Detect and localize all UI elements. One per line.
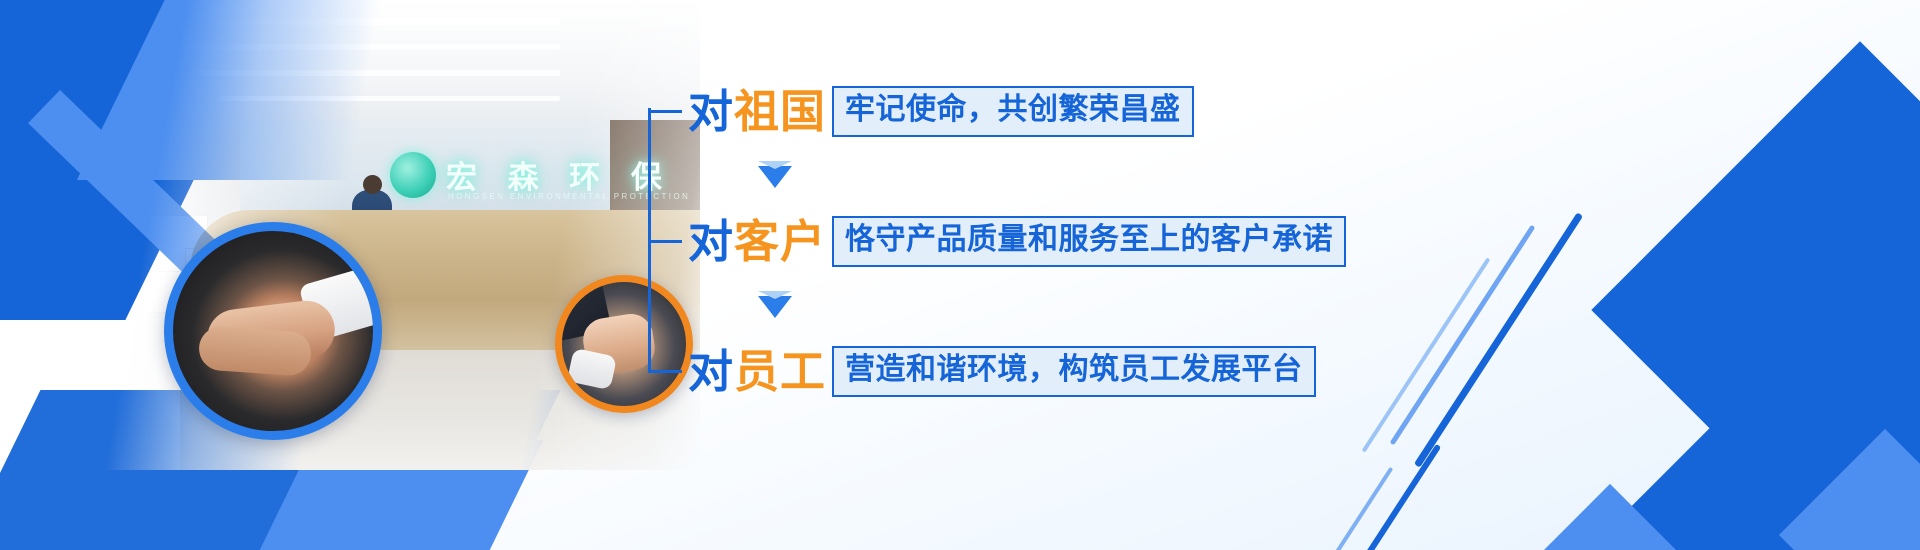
ceiling-slat bbox=[220, 96, 560, 101]
statement-label: 对客户 bbox=[688, 219, 826, 264]
culture-banner: 宏 森 环 保 HONGSEN ENVIRONMENTAL PROTECTION… bbox=[0, 0, 1920, 550]
label-prefix: 对 bbox=[688, 216, 734, 267]
culture-statements: 对祖国 牢记使命，共创繁荣昌盛 对客户 恪守产品质量和服务至上的客户承诺 对员工… bbox=[648, 78, 1348, 398]
statement-row-country: 对祖国 牢记使命，共创繁荣昌盛 bbox=[648, 86, 1194, 137]
connector-elbow bbox=[648, 110, 682, 113]
down-arrow-icon bbox=[758, 296, 792, 318]
statement-label: 对员工 bbox=[688, 349, 826, 394]
down-arrow-icon bbox=[758, 166, 792, 188]
decor-diagonal-line-3 bbox=[1362, 257, 1491, 452]
ceiling-slat bbox=[160, 44, 560, 50]
connector-elbow bbox=[648, 240, 682, 243]
statement-text: 牢记使命，共创繁荣昌盛 bbox=[832, 86, 1194, 137]
label-keyword: 员工 bbox=[734, 346, 826, 397]
statement-text: 营造和谐环境，构筑员工发展平台 bbox=[832, 346, 1316, 397]
label-keyword: 祖国 bbox=[734, 86, 826, 137]
ceiling-slat bbox=[130, 18, 560, 25]
statement-row-employee: 对员工 营造和谐环境，构筑员工发展平台 bbox=[648, 346, 1316, 397]
company-sign-name: 宏 森 环 保 bbox=[446, 152, 673, 197]
handshake-circle-photo bbox=[164, 222, 382, 440]
connector-elbow bbox=[648, 370, 682, 373]
statement-text: 恪守产品质量和服务至上的客户承诺 bbox=[832, 216, 1346, 267]
statement-label: 对祖国 bbox=[688, 89, 826, 134]
company-logo-mark bbox=[390, 152, 436, 198]
label-keyword: 客户 bbox=[734, 216, 826, 267]
decor-diagonal-line-2 bbox=[1390, 225, 1536, 446]
statement-row-customer: 对客户 恪守产品质量和服务至上的客户承诺 bbox=[648, 216, 1346, 267]
label-prefix: 对 bbox=[688, 346, 734, 397]
label-prefix: 对 bbox=[688, 86, 734, 137]
ceiling-slat bbox=[190, 70, 560, 76]
hand-lower bbox=[198, 325, 313, 377]
decor-diagonal-line-1 bbox=[1414, 212, 1583, 467]
photo-collage: 宏 森 环 保 HONGSEN ENVIRONMENTAL PROTECTION bbox=[60, 0, 700, 550]
